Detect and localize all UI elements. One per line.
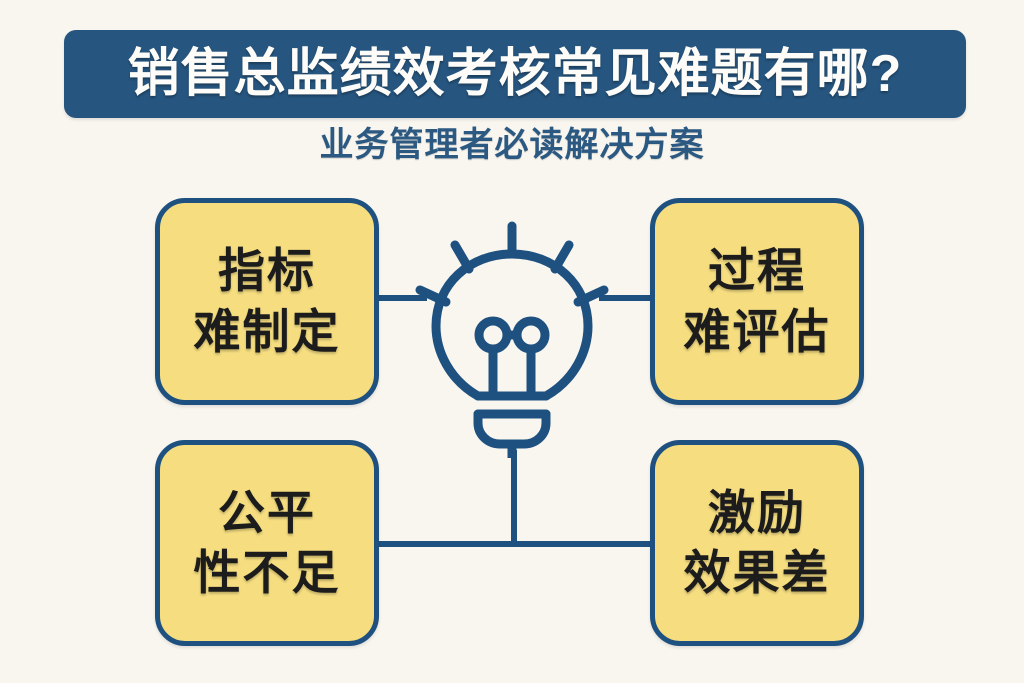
issue-card-line-1: 公平 [218,483,316,543]
issue-card-line-1: 过程 [708,241,806,301]
issue-card-line-2: 效果差 [684,543,831,603]
issue-card-top-left[interactable]: 指标 难制定 [155,198,379,405]
lightbulb-icon [414,218,610,458]
title-banner: 销售总监绩效考核常见难题有哪? [64,30,966,118]
issue-card-line-2: 难评估 [684,302,831,362]
issue-card-line-2: 难制定 [194,302,341,362]
issue-card-bottom-left[interactable]: 公平 性不足 [155,440,379,646]
issue-card-line-1: 指标 [218,241,316,301]
bulb-glass [436,254,588,396]
connector-stem [511,450,517,544]
infographic-canvas: 销售总监绩效考核常见难题有哪? 业务管理者必读解决方案 [0,0,1024,683]
issue-card-line-1: 激励 [708,483,806,543]
issue-card-bottom-right[interactable]: 激励 效果差 [650,440,864,646]
issue-card-line-2: 性不足 [194,543,341,603]
page-title: 销售总监绩效考核常见难题有哪? [128,48,903,100]
page-subtitle: 业务管理者必读解决方案 [0,128,1024,162]
issue-card-top-right[interactable]: 过程 难评估 [650,198,864,405]
